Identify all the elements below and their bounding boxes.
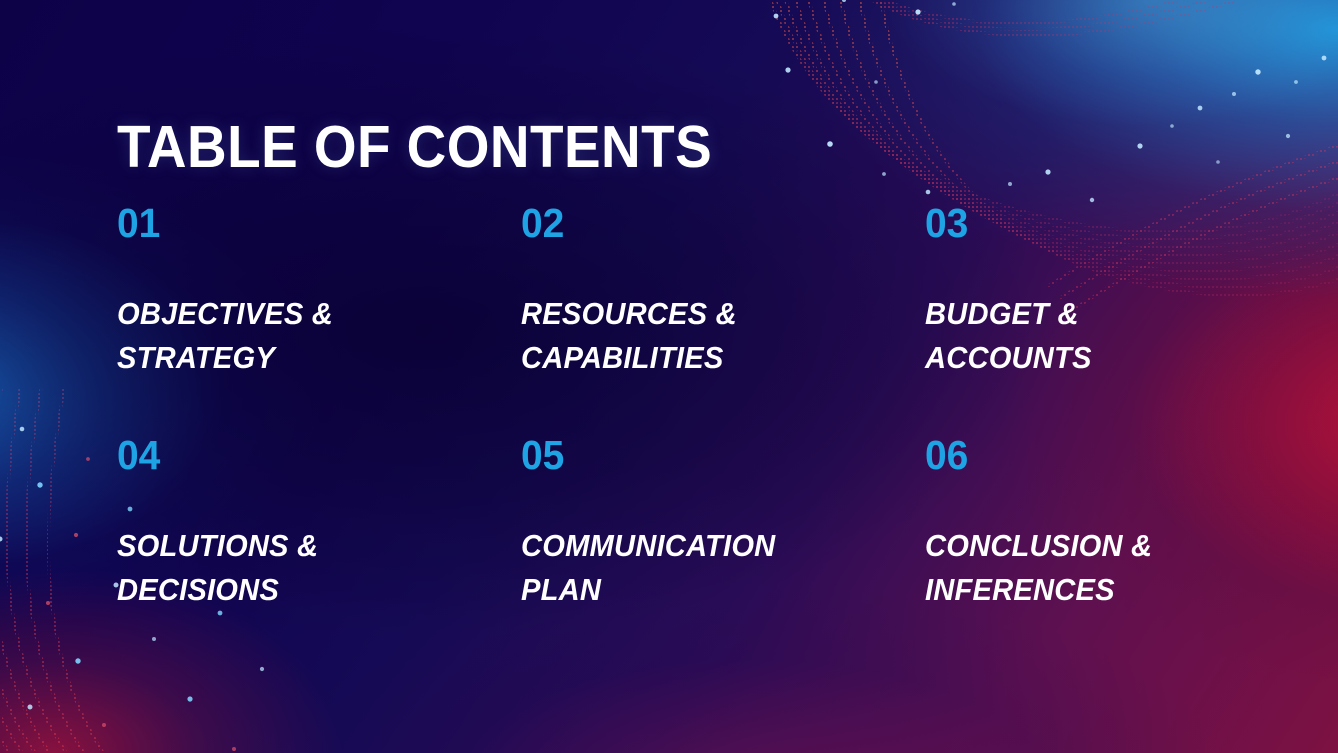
toc-label: BUDGET & ACCOUNTS: [925, 292, 1228, 381]
slide-content: TABLE OF CONTENTS 01 OBJECTIVES & STRATE…: [0, 0, 1338, 753]
toc-label: SOLUTIONS & DECISIONS: [117, 524, 497, 613]
toc-number: 06: [925, 435, 1231, 476]
toc-item-01[interactable]: 01 OBJECTIVES & STRATEGY: [117, 203, 521, 435]
slide-canvas: TABLE OF CONTENTS 01 OBJECTIVES & STRATE…: [0, 0, 1338, 753]
toc-item-03[interactable]: 03 BUDGET & ACCOUNTS: [925, 203, 1247, 435]
toc-label: RESOURCES & CAPABILITIES: [521, 292, 901, 381]
toc-number: 03: [925, 203, 1231, 244]
page-title: TABLE OF CONTENTS: [117, 118, 712, 177]
toc-label: OBJECTIVES & STRATEGY: [117, 292, 497, 381]
toc-item-05[interactable]: 05 COMMUNICATION PLAN: [521, 435, 925, 613]
toc-item-06[interactable]: 06 CONCLUSION & INFERENCES: [925, 435, 1247, 613]
toc-label: CONCLUSION & INFERENCES: [925, 524, 1228, 613]
toc-item-02[interactable]: 02 RESOURCES & CAPABILITIES: [521, 203, 925, 435]
toc-number: 02: [521, 203, 905, 244]
toc-number: 05: [521, 435, 905, 476]
toc-label: COMMUNICATION PLAN: [521, 524, 901, 613]
toc-grid: 01 OBJECTIVES & STRATEGY 02 RESOURCES & …: [117, 203, 1247, 613]
toc-number: 01: [117, 203, 501, 244]
toc-item-04[interactable]: 04 SOLUTIONS & DECISIONS: [117, 435, 521, 613]
toc-number: 04: [117, 435, 501, 476]
